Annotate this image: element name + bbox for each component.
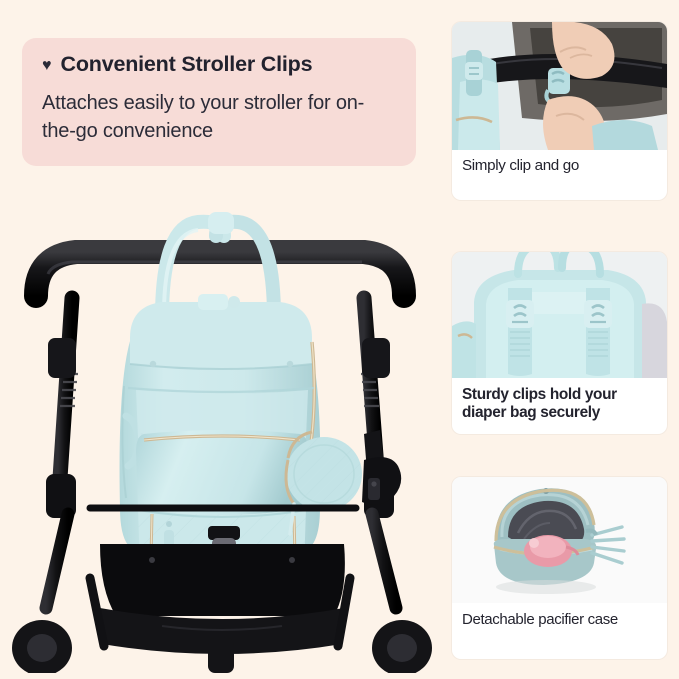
heart-icon: ♥	[42, 58, 52, 74]
feature-card-sturdy-clips: Sturdy clips hold your diaper bag secure…	[452, 252, 667, 434]
feature-card-clip-and-go: Simply clip and go	[452, 22, 667, 200]
feature-card-pacifier-case: Detachable pacifier case	[452, 477, 667, 659]
photo-bag-back-straps	[452, 252, 667, 378]
hero-illustration	[12, 178, 432, 673]
caption-clip-and-go: Simply clip and go	[452, 150, 667, 175]
photo-pacifier-case	[452, 477, 667, 603]
photo-clip-on-handlebar	[452, 22, 667, 150]
stroller-storage-basket	[100, 544, 345, 654]
caption-sturdy-clips: Sturdy clips hold your diaper bag secure…	[452, 378, 667, 423]
caption-pacifier-case: Detachable pacifier case	[452, 603, 667, 629]
feature-subtitle: Attaches easily to your stroller for on-…	[42, 89, 396, 146]
feature-heading-row: ♥ Convenient Stroller Clips	[42, 52, 396, 77]
feature-card: ♥ Convenient Stroller Clips Attaches eas…	[22, 38, 416, 166]
hero-product-image	[12, 178, 432, 673]
page-stage: ♥ Convenient Stroller Clips Attaches eas…	[0, 0, 679, 679]
feature-title: Convenient Stroller Clips	[61, 52, 313, 77]
